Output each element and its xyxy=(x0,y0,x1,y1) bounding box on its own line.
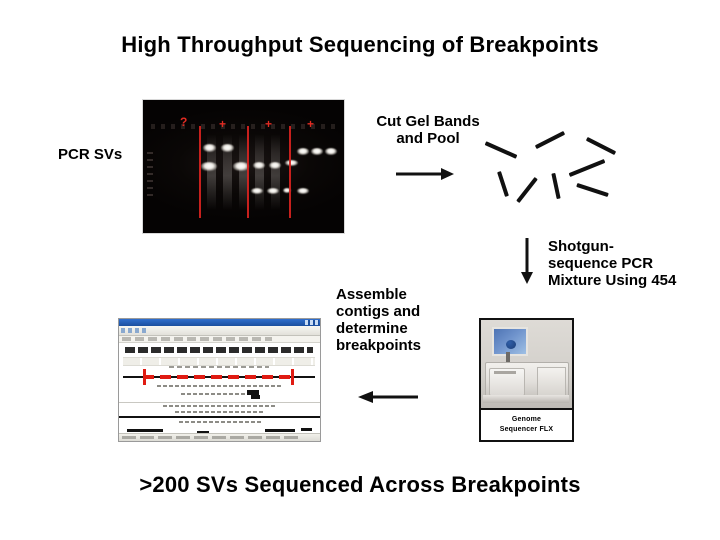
label-assemble-line2: contigs and xyxy=(336,303,456,320)
monitor-screen-graphic xyxy=(506,340,516,349)
gel-band xyxy=(311,148,323,155)
gel-band xyxy=(201,162,217,171)
monitor-stand xyxy=(506,352,510,362)
browser-track-tabs xyxy=(125,347,313,353)
gel-band xyxy=(267,188,279,194)
browser-contig-block xyxy=(265,429,295,432)
gel-band xyxy=(297,148,309,155)
sequencer-photo xyxy=(481,320,572,410)
gel-band xyxy=(285,160,298,166)
browser-titlebar xyxy=(119,319,320,326)
footer-title: >200 SVs Sequenced Across Breakpoints xyxy=(0,472,720,498)
slide-canvas: High Throughput Sequencing of Breakpoint… xyxy=(0,0,720,540)
browser-content xyxy=(119,343,320,442)
dna-fragment xyxy=(485,141,518,158)
breakpoint-dashed-interval xyxy=(143,375,295,379)
gel-mark-question: ? xyxy=(180,116,187,128)
browser-caption-line xyxy=(157,385,281,387)
gel-mark-plus: + xyxy=(265,118,272,130)
arrow-down-icon xyxy=(520,238,534,284)
gel-band xyxy=(325,148,337,155)
gel-mark-plus: + xyxy=(219,118,226,130)
sequencer-caption-line1: Genome xyxy=(512,415,541,425)
sequencer-caption-line2: Sequencer FLX xyxy=(500,425,554,435)
gel-lane-smear xyxy=(271,134,280,210)
browser-status-bar xyxy=(119,433,320,441)
label-assemble-line4: breakpoints xyxy=(336,337,456,354)
dna-fragment xyxy=(535,131,565,149)
browser-track-buttons xyxy=(123,357,315,366)
gel-band xyxy=(221,144,234,152)
gel-band xyxy=(269,162,281,169)
gel-band xyxy=(203,144,216,152)
browser-contig-block xyxy=(301,428,312,431)
label-shotgun-sequence: Shotgun- sequence PCR Mixture Using 454 xyxy=(548,238,718,289)
gel-cut-line xyxy=(289,126,291,218)
dna-fragment xyxy=(576,183,609,197)
label-assemble-line3: determine xyxy=(336,320,456,337)
browser-caption-line xyxy=(175,411,265,413)
browser-feature-block xyxy=(251,395,260,399)
dna-fragment xyxy=(497,171,509,197)
label-shotgun-line1: Shotgun- xyxy=(548,238,718,255)
label-shotgun-line3: Mixture Using 454 xyxy=(548,272,718,289)
gel-band xyxy=(251,188,263,194)
browser-caption-line xyxy=(179,421,261,423)
browser-address-bar xyxy=(119,336,320,343)
browser-contig-block xyxy=(127,429,163,432)
browser-caption-line xyxy=(163,405,275,407)
dna-fragment-scatter xyxy=(468,126,638,231)
dna-fragment xyxy=(586,137,616,155)
dna-fragment xyxy=(569,159,606,177)
page-title: High Throughput Sequencing of Breakpoint… xyxy=(0,32,720,58)
breakpoint-marker-left xyxy=(143,369,146,385)
breakpoint-marker-right xyxy=(291,369,294,385)
browser-caption-line xyxy=(181,393,257,395)
gel-electrophoresis-image: ? + + + xyxy=(143,100,344,233)
gel-ladder-marks xyxy=(147,152,153,200)
genome-browser-screenshot xyxy=(118,318,321,442)
dna-fragment xyxy=(551,173,560,199)
label-pcr-svs: PCR SVs xyxy=(58,146,122,163)
sequencer-base xyxy=(483,395,569,403)
label-assemble-line1: Assemble xyxy=(336,286,456,303)
gel-cut-line xyxy=(247,126,249,218)
browser-divider xyxy=(119,416,320,418)
sequencer-monitor-icon xyxy=(492,327,528,356)
browser-divider xyxy=(119,402,320,403)
gel-cut-line xyxy=(199,126,201,218)
browser-toolbar xyxy=(119,326,320,336)
sequencer-right-module xyxy=(537,367,566,397)
gel-band xyxy=(253,162,265,169)
arrow-left-icon xyxy=(358,390,418,404)
gel-lane-smear xyxy=(255,134,264,210)
genome-sequencer-image: Genome Sequencer FLX xyxy=(479,318,574,442)
dna-fragment xyxy=(516,177,538,203)
label-shotgun-line2: sequence PCR xyxy=(548,255,718,272)
arrow-right-icon xyxy=(396,167,454,181)
browser-track-heading xyxy=(169,366,269,368)
sequencer-slot xyxy=(494,371,516,374)
gel-mark-plus: + xyxy=(307,118,314,130)
sequencer-caption: Genome Sequencer FLX xyxy=(481,408,572,440)
label-assemble-contigs: Assemble contigs and determine breakpoin… xyxy=(336,286,456,354)
gel-band xyxy=(297,188,309,194)
